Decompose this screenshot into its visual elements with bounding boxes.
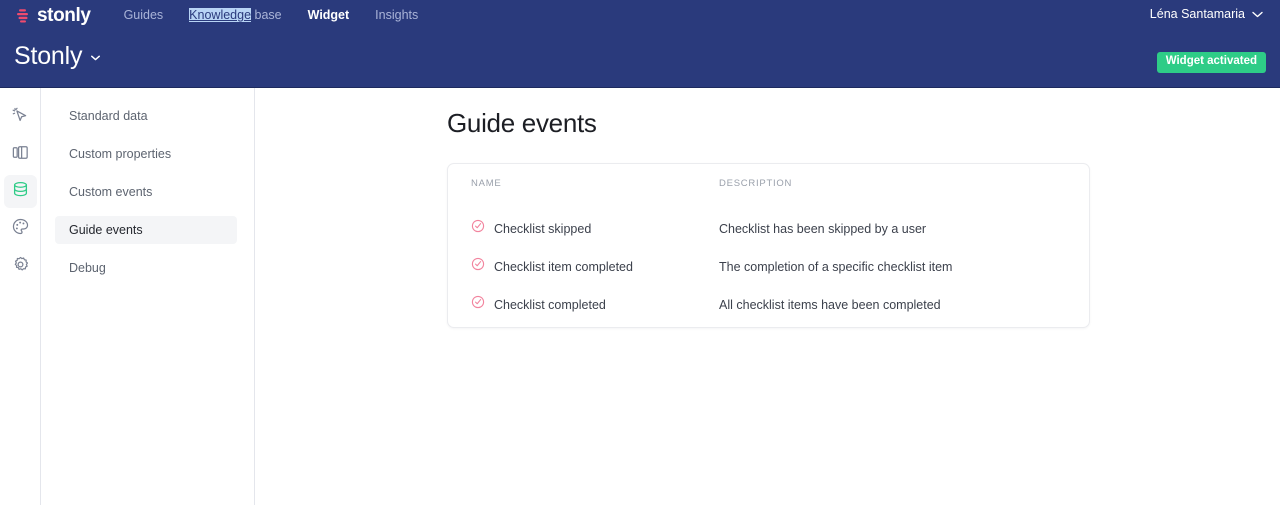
sidebar-item-guide-events[interactable]: Guide events	[55, 216, 237, 244]
top-header-bar: stonly Guides Knowledge base Widget Insi…	[0, 0, 1280, 88]
rail-item-palette[interactable]	[4, 212, 37, 245]
workspace-name-label: Stonly	[14, 44, 82, 69]
nav-item-widget[interactable]: Widget	[295, 4, 363, 26]
icon-sidebar-rail	[0, 88, 41, 505]
event-name-label: Checklist item completed	[494, 260, 633, 274]
click-cursor-icon	[11, 106, 30, 130]
user-name-label: Léna Santamaria	[1150, 7, 1245, 21]
gear-icon	[11, 255, 30, 279]
table-row[interactable]: Checklist skipped Checklist has been ski…	[448, 210, 1091, 247]
chevron-down-icon	[91, 48, 100, 66]
check-circle-icon	[471, 295, 485, 314]
sidebar-item-custom-events[interactable]: Custom events	[55, 178, 237, 206]
nav-item-insights[interactable]: Insights	[362, 4, 431, 26]
main-nav: Guides Knowledge base Widget Insights	[111, 4, 432, 26]
rail-item-click-cursor[interactable]	[4, 101, 37, 134]
table-row[interactable]: Checklist item completed The completion …	[448, 248, 1091, 285]
table-row[interactable]: Checklist completed All checklist items …	[448, 286, 1091, 323]
rail-item-settings[interactable]	[4, 250, 37, 283]
nav-item-guides[interactable]: Guides	[111, 4, 177, 26]
nav-item-knowledge-base-selected-text: Knowledge	[189, 8, 251, 22]
guide-events-table-card: NAME DESCRIPTION Checklist skipped Check…	[447, 163, 1090, 328]
stonly-logo-text: stonly	[37, 6, 91, 25]
sidebar-item-debug[interactable]: Debug	[55, 254, 237, 282]
layout-panels-icon	[11, 143, 30, 167]
check-circle-icon	[471, 257, 485, 276]
workspace-selector[interactable]: Stonly	[14, 44, 100, 69]
settings-submenu: Standard data Custom properties Custom e…	[41, 88, 255, 505]
submenu-gap	[41, 244, 254, 254]
nav-item-knowledge-base[interactable]: Knowledge base	[176, 4, 294, 26]
sidebar-item-custom-properties[interactable]: Custom properties	[55, 140, 237, 168]
palette-icon	[11, 217, 30, 241]
table-cell-name: Checklist item completed	[471, 257, 633, 276]
table-column-header-description: DESCRIPTION	[719, 178, 792, 189]
submenu-gap	[41, 168, 254, 178]
status-badge-widget-activated[interactable]: Widget activated	[1157, 52, 1266, 73]
submenu-gap	[41, 206, 254, 216]
user-account-menu[interactable]: Léna Santamaria	[1150, 7, 1263, 21]
rail-item-database[interactable]	[4, 175, 37, 208]
table-cell-name: Checklist completed	[471, 295, 606, 314]
event-name-label: Checklist completed	[494, 298, 606, 312]
table-column-header-name: NAME	[471, 178, 501, 189]
database-icon	[11, 180, 30, 204]
submenu-gap	[41, 130, 254, 140]
stonly-logo[interactable]: stonly	[15, 6, 91, 25]
event-description-label: All checklist items have been completed	[719, 298, 941, 312]
event-description-label: Checklist has been skipped by a user	[719, 222, 926, 236]
event-description-label: The completion of a specific checklist i…	[719, 260, 952, 274]
main-content: Guide events NAME DESCRIPTION Checklist …	[256, 88, 1280, 505]
check-circle-icon	[471, 219, 485, 238]
rail-item-layout-panels[interactable]	[4, 138, 37, 171]
sidebar-item-standard-data[interactable]: Standard data	[55, 102, 237, 130]
event-name-label: Checklist skipped	[494, 222, 591, 236]
table-cell-name: Checklist skipped	[471, 219, 591, 238]
page-title: Guide events	[447, 108, 597, 139]
nav-item-knowledge-base-rest-text: base	[251, 8, 282, 22]
header-nav-row: stonly Guides Knowledge base Widget Insi…	[0, 0, 1280, 30]
stonly-logo-icon	[15, 7, 32, 24]
chevron-down-icon	[1252, 11, 1263, 18]
